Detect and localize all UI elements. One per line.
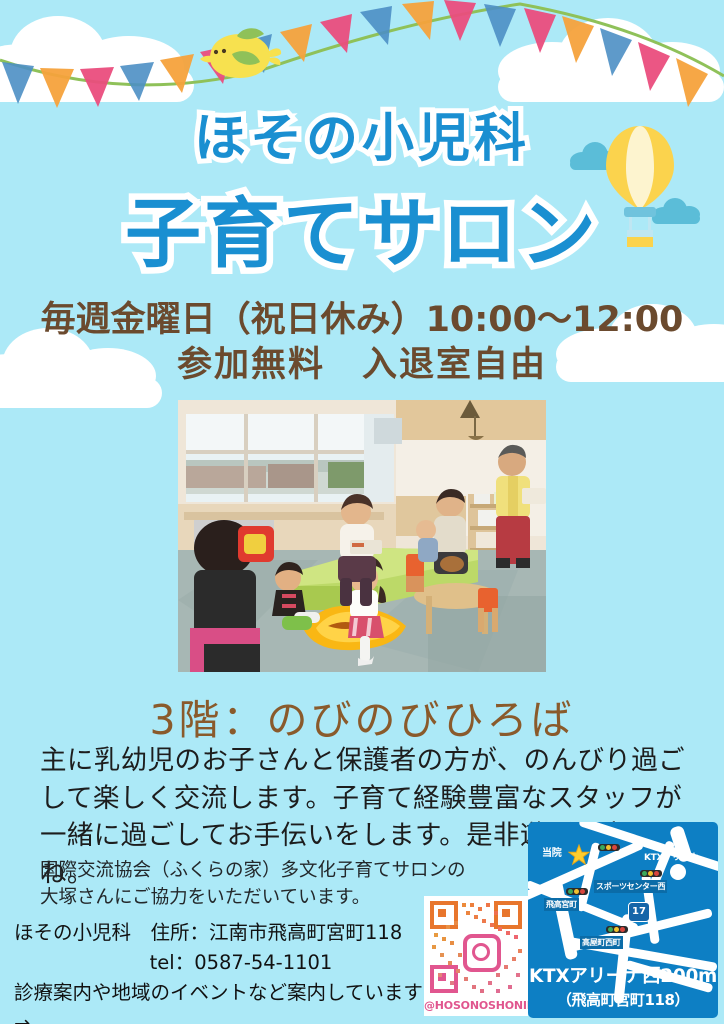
clinic-star-marker (568, 844, 590, 866)
map-route-shield: 17 (628, 902, 650, 922)
map-label-takaya: 高屋町西町 (580, 936, 623, 949)
qr-pattern (430, 901, 522, 993)
instagram-handle: @HOSONOSHONIKA (424, 999, 528, 1012)
qr-finder-bottom-left (430, 965, 458, 993)
location-map: 17 .route17{left:100px;top:80px;} 当院 KTX… (528, 822, 718, 1018)
instagram-qr-code[interactable]: @HOSONOSHONIKA (424, 896, 528, 1016)
qr-finder-top-right (494, 901, 522, 929)
clinic-sns-prompt: 診療案内や地域のイベントなど案内しています→ (14, 981, 423, 1024)
clinic-address-line: ほその小児科 住所：江南市飛高町宮町118 (14, 921, 402, 944)
map-signal-3 (566, 888, 588, 895)
playroom-photo-illustration (178, 400, 546, 672)
playroom-photo (178, 400, 546, 672)
clinic-tel-line: tel：0587-54-1101 (14, 948, 434, 978)
map-arena-marker (670, 864, 686, 880)
map-label-arena: KTXアリーナ (644, 850, 698, 863)
event-title: 子育てサロン (0, 172, 724, 282)
schedule-line-2: 参加無料 入退室自由 (0, 343, 724, 388)
venue-label: 3階：のびのびひろば (0, 686, 724, 746)
credit-line-2: 大塚さんにご協力をいただいています。 (40, 887, 370, 908)
poster-canvas: ほその小児科 子育てサロン 毎週金曜日（祝日休み）10:00〜12:00 参加無… (0, 0, 724, 1024)
instagram-icon (463, 934, 501, 972)
credit-line-1: 国際交流協会（ふくらの家）多文化子育てサロンの (40, 860, 466, 881)
map-caption: KTXアリーナ西200m (528, 962, 718, 988)
map-label-hidaka: 飛高宮町 (544, 898, 579, 911)
map-signal-4 (606, 926, 628, 933)
map-label-sports-center: スポーツセンター西 (594, 880, 667, 893)
map-caption-sub: （飛高町宮町118） (528, 989, 718, 1010)
schedule-line-1: 毎週金曜日（祝日休み）10:00〜12:00 (41, 300, 684, 340)
bird-icon (196, 24, 282, 86)
map-signal-2 (640, 870, 662, 877)
clinic-contact-info: ほその小児科 住所：江南市飛高町宮町118 tel：0587-54-1101 診… (14, 918, 434, 1024)
clinic-name-title: ほその小児科 (0, 96, 724, 171)
map-label-clinic: 当院 (542, 844, 561, 859)
map-signal-1 (598, 844, 620, 851)
schedule-block: 毎週金曜日（祝日休み）10:00〜12:00 参加無料 入退室自由 (0, 298, 724, 388)
